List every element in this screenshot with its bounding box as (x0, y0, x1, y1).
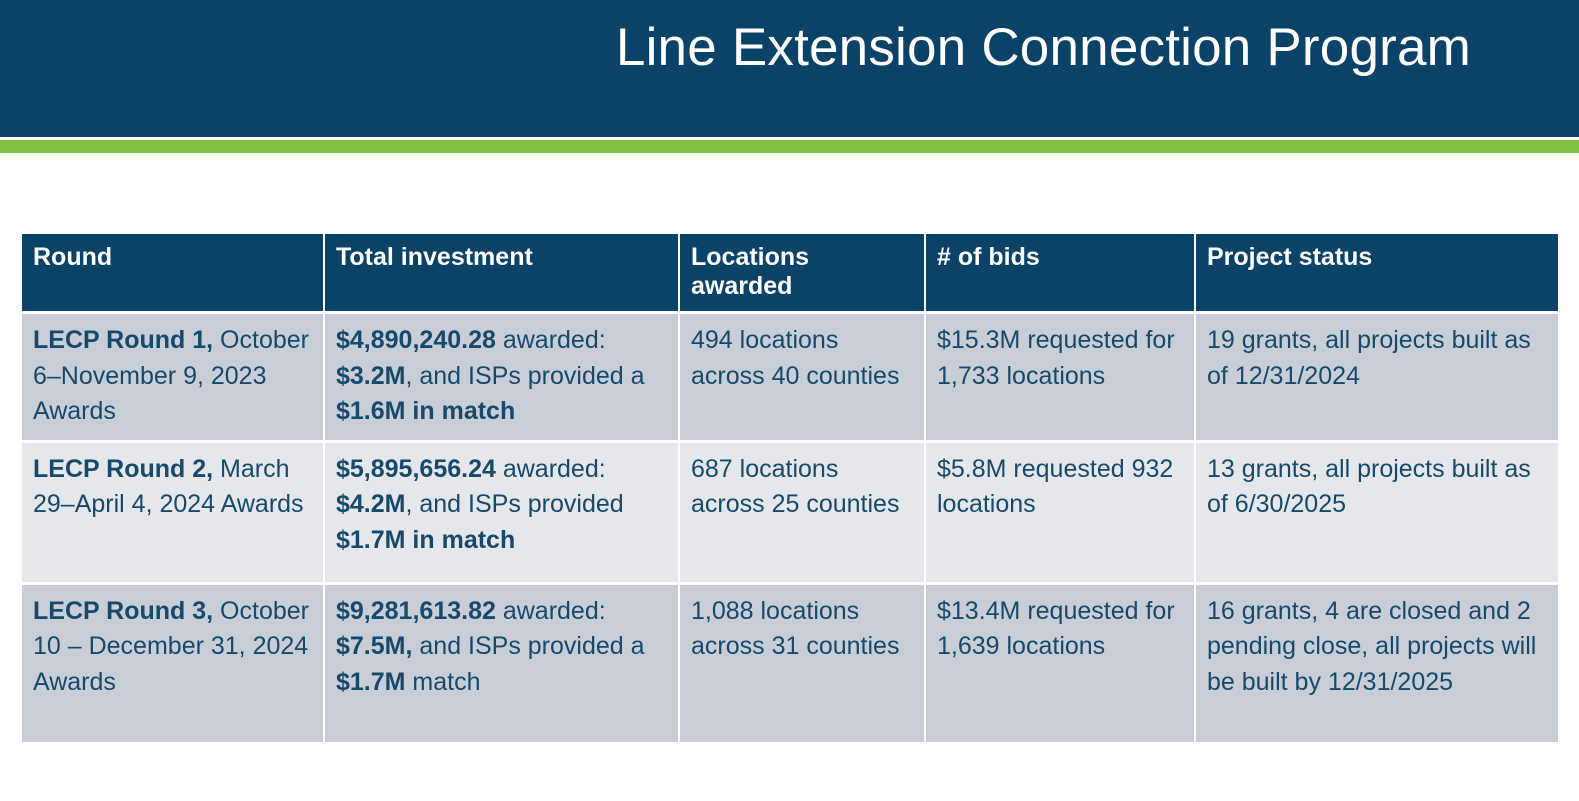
investment-isp-label: and ISPs provided a (412, 632, 644, 660)
cell-round: LECP Round 3, October 10 – December 31, … (22, 585, 325, 742)
investment-awarded-label: awarded: (496, 455, 606, 483)
column-header-number-of-bids: # of bids (926, 234, 1196, 314)
cell-total-investment: $5,895,656.24 awarded: $4.2M, and ISPs p… (325, 443, 680, 585)
round-name: LECP Round 2, (33, 455, 213, 483)
investment-match-amount: $1.7M (336, 668, 405, 696)
table-body: LECP Round 1, October 6–November 9, 2023… (22, 314, 1558, 742)
investment-federal-amount: $3.2M (336, 362, 405, 390)
cell-locations-awarded: 687 locations across 25 counties (680, 443, 926, 585)
round-name: LECP Round 3, (33, 597, 213, 625)
column-header-project-status: Project status (1196, 234, 1558, 314)
cell-number-of-bids: $5.8M requested 932 locations (926, 443, 1196, 585)
cell-project-status: 13 grants, all projects built as of 6/30… (1196, 443, 1558, 585)
cell-total-investment: $4,890,240.28 awarded: $3.2M, and ISPs p… (325, 314, 680, 443)
investment-match-label: match (405, 668, 480, 696)
cell-project-status: 19 grants, all projects built as of 12/3… (1196, 314, 1558, 443)
cell-locations-awarded: 494 locations across 40 counties (680, 314, 926, 443)
investment-total-amount: $5,895,656.24 (336, 455, 496, 483)
cell-round: LECP Round 2, March 29–April 4, 2024 Awa… (22, 443, 325, 585)
investment-awarded-label: awarded: (496, 597, 606, 625)
cell-round: LECP Round 1, October 6–November 9, 2023… (22, 314, 325, 443)
page-title: Line Extension Connection Program (0, 18, 1471, 79)
table-header-row: Round Total investment Locations awarded… (22, 234, 1558, 314)
round-name: LECP Round 1, (33, 326, 213, 354)
table-row: LECP Round 3, October 10 – December 31, … (22, 585, 1558, 742)
table-row: LECP Round 2, March 29–April 4, 2024 Awa… (22, 443, 1558, 585)
investment-total-amount: $9,281,613.82 (336, 597, 496, 625)
cell-locations-awarded: 1,088 locations across 31 counties (680, 585, 926, 742)
investment-total-amount: $4,890,240.28 (336, 326, 496, 354)
investment-isp-label: , and ISPs provided a (405, 362, 644, 390)
table-row: LECP Round 1, October 6–November 9, 2023… (22, 314, 1558, 443)
column-header-round: Round (22, 234, 325, 314)
header-accent-bar (0, 140, 1579, 153)
lecp-rounds-table-container: Round Total investment Locations awarded… (22, 234, 1558, 742)
investment-federal-amount: $4.2M (336, 490, 405, 518)
lecp-rounds-table: Round Total investment Locations awarded… (22, 234, 1558, 742)
cell-number-of-bids: $13.4M requested for 1,639 locations (926, 585, 1196, 742)
investment-match-amount: $1.6M in match (336, 397, 515, 425)
investment-federal-amount: $7.5M, (336, 632, 412, 660)
investment-awarded-label: awarded: (496, 326, 606, 354)
column-header-total-investment: Total investment (325, 234, 680, 314)
cell-project-status: 16 grants, 4 are closed and 2 pending cl… (1196, 585, 1558, 742)
column-header-locations-awarded: Locations awarded (680, 234, 926, 314)
investment-match-amount: $1.7M in match (336, 526, 515, 554)
header-banner: Line Extension Connection Program (0, 0, 1579, 137)
table-header: Round Total investment Locations awarded… (22, 234, 1558, 314)
cell-total-investment: $9,281,613.82 awarded: $7.5M, and ISPs p… (325, 585, 680, 742)
cell-number-of-bids: $15.3M requested for 1,733 locations (926, 314, 1196, 443)
investment-isp-label: , and ISPs provided (405, 490, 623, 518)
